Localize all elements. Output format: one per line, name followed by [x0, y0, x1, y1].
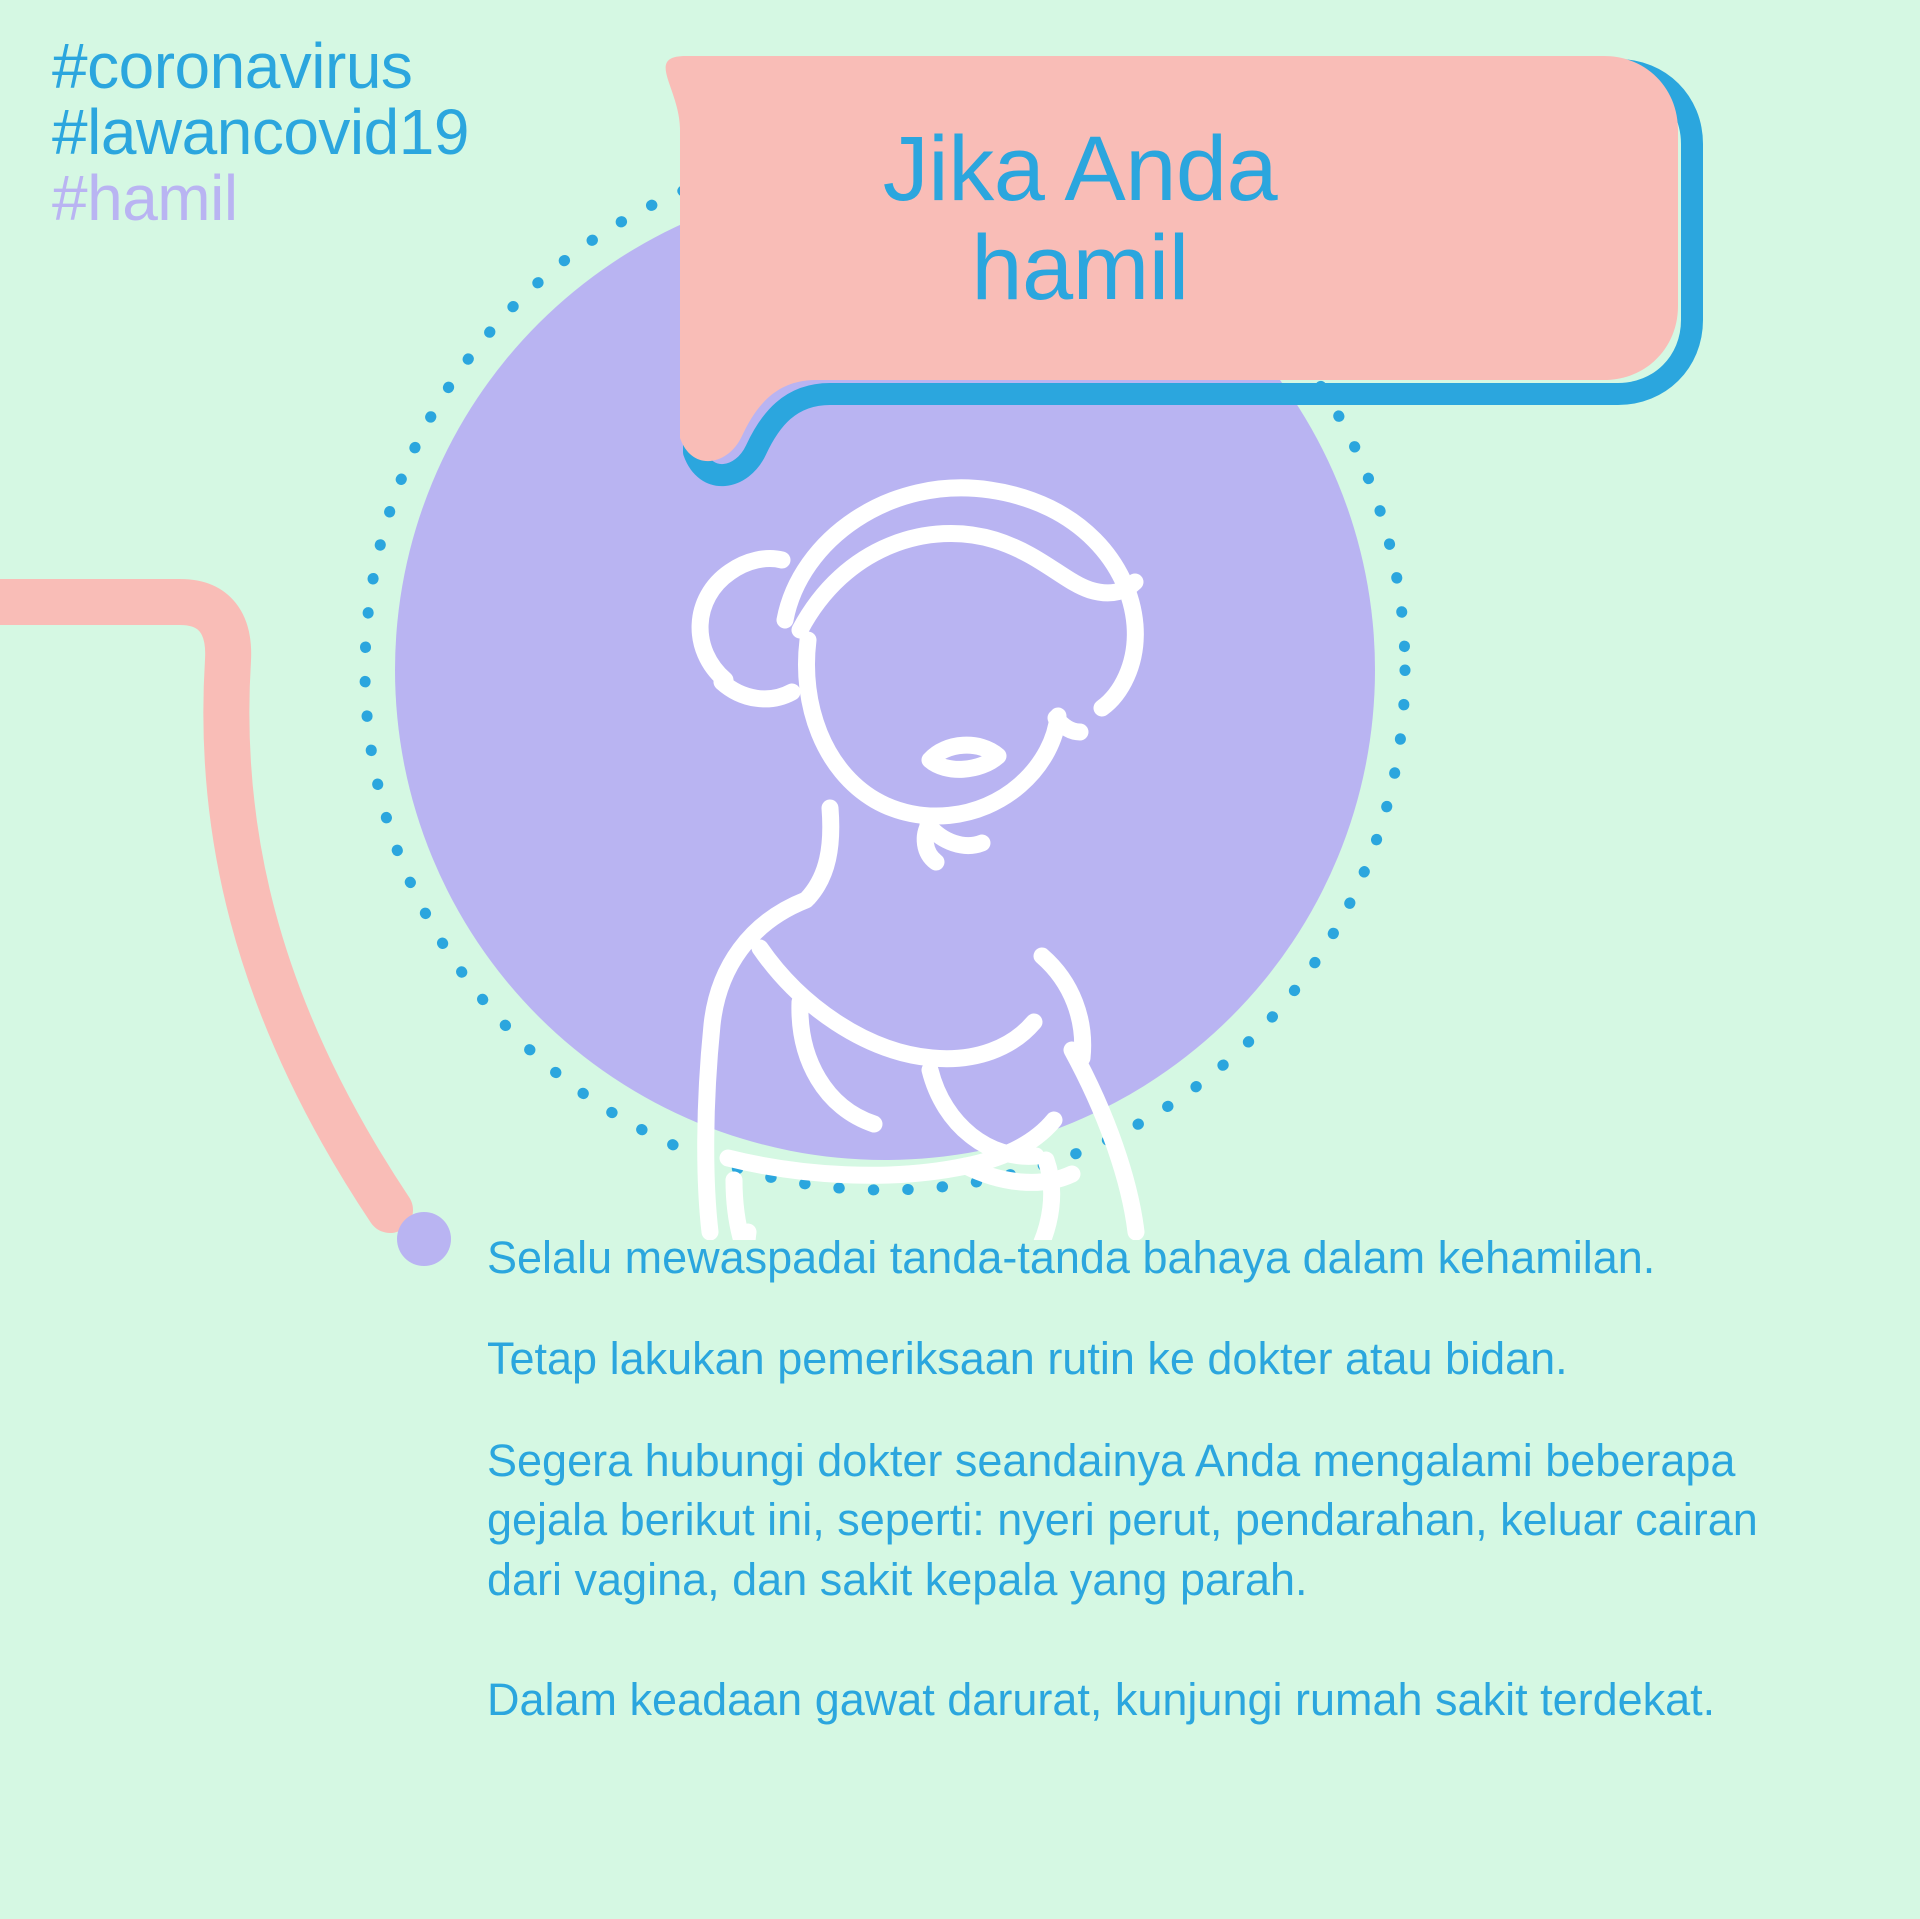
body-paragraph-1: Selalu mewaspadai tanda-tanda bahaya dal… [487, 1228, 1817, 1287]
body-paragraph-2: Tetap lakukan pemeriksaan rutin ke dokte… [487, 1329, 1817, 1388]
pink-curve-path [0, 602, 390, 1210]
body-text: Selalu mewaspadai tanda-tanda bahaya dal… [487, 1228, 1817, 1735]
bullet-dot [397, 1212, 451, 1266]
speech-bubble: Jika Anda hamil [0, 0, 1920, 520]
body-paragraph-3: Segera hubungi dokter seandainya Anda me… [487, 1431, 1817, 1609]
pink-curve-decoration [0, 520, 460, 1280]
body-paragraph-4: Dalam keadaan gawat darurat, kunjungi ru… [487, 1665, 1817, 1735]
infographic-canvas: #coronavirus #lawancovid19 #hamil [0, 0, 1920, 1919]
